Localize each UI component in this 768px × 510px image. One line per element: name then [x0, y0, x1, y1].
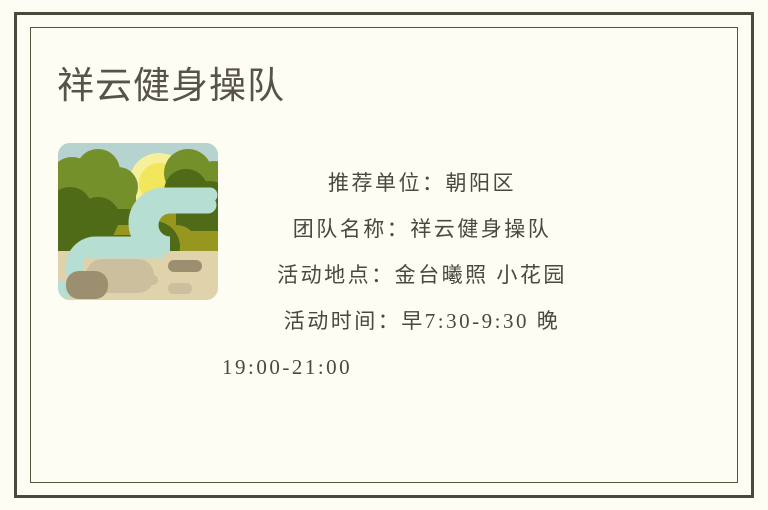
- info-line-activity-location: 活动地点：金台曦照 小花园: [222, 252, 622, 298]
- card-page: 祥云健身操队: [0, 0, 768, 510]
- landscape-illustration-svg: [58, 143, 218, 300]
- landscape-thumbnail-image: [58, 143, 218, 300]
- info-line-recommending-unit: 推荐单位：朝阳区: [222, 160, 622, 206]
- info-line-activity-time: 活动时间：早7:30-9:30 晚: [222, 298, 622, 344]
- page-title: 祥云健身操队: [57, 63, 285, 109]
- team-info-block: 推荐单位：朝阳区 团队名称：祥云健身操队 活动地点：金台曦照 小花园 活动时间：…: [222, 160, 622, 390]
- info-line-team-name: 团队名称：祥云健身操队: [222, 206, 622, 252]
- info-line-activity-time-continued: 19:00-21:00: [222, 344, 622, 390]
